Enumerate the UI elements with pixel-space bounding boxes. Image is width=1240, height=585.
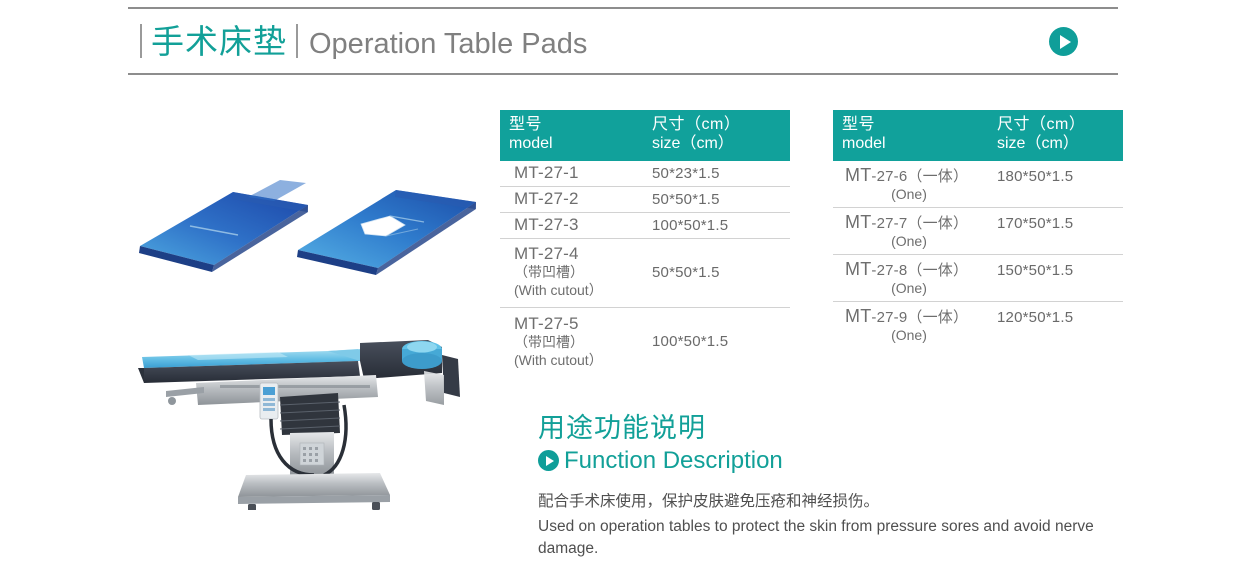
- table-header-row: 型号 model 尺寸（cm） size（cm）: [500, 110, 790, 161]
- page-header: 手术床垫 Operation Table Pads: [128, 7, 1118, 75]
- title-divider-left: [140, 24, 142, 58]
- table-row: MT-27-7（一体） 170*50*1.5 (One): [833, 208, 1123, 255]
- table-row: MT-27-5 （带凹槽） (With cutout） 100*50*1.5: [500, 308, 790, 377]
- spec-table-left: 型号 model 尺寸（cm） size（cm） MT-27-1 50*23*1…: [500, 110, 790, 377]
- function-title-cn: 用途功能说明: [538, 412, 1118, 444]
- page-title-cn: 手术床垫: [151, 23, 287, 61]
- column-header-size: 尺寸（cm） size（cm）: [973, 116, 1123, 154]
- function-description-en: Used on operation tables to protect the …: [538, 516, 1098, 559]
- table-row: MT-27-4 （带凹槽） (With cutout） 50*50*1.5: [500, 239, 790, 308]
- operating-table-illustration: [138, 340, 460, 510]
- header-rule-bottom: [128, 73, 1118, 75]
- table-row: MT-27-9（一体） 120*50*1.5 (One): [833, 302, 1123, 348]
- play-circle-icon: [538, 450, 559, 471]
- function-description-section: 用途功能说明 Function Description 配合手术床使用，保护皮肤…: [538, 412, 1118, 559]
- table-row: MT-27-2 50*50*1.5: [500, 187, 790, 213]
- pad-with-cutout-illustration: [297, 190, 476, 275]
- function-title-en: Function Description: [564, 447, 783, 474]
- title-divider-right: [296, 24, 298, 58]
- play-circle-icon[interactable]: [1049, 27, 1078, 56]
- header-rule-top: [128, 7, 1118, 9]
- spec-table-right: 型号 model 尺寸（cm） size（cm） MT-27-6（一体） 180…: [833, 110, 1123, 348]
- function-description-cn: 配合手术床使用，保护皮肤避免压疮和神经损伤。: [538, 490, 1118, 513]
- function-title-row: Function Description: [538, 447, 1118, 474]
- page-title-en: Operation Table Pads: [309, 25, 587, 63]
- pad-plain-illustration: [139, 180, 308, 272]
- column-header-size: 尺寸（cm） size（cm）: [652, 116, 790, 154]
- play-triangle-icon: [546, 456, 554, 466]
- table-row: MT-27-6（一体） 180*50*1.5 (One): [833, 161, 1123, 208]
- play-triangle-icon: [1060, 35, 1071, 49]
- table-row: MT-27-8（一体） 150*50*1.5 (One): [833, 255, 1123, 302]
- table-row: MT-27-3 100*50*1.5: [500, 213, 790, 239]
- table-row: MT-27-1 50*23*1.5: [500, 161, 790, 187]
- page-title: 手术床垫 Operation Table Pads: [140, 19, 587, 63]
- table-header-row: 型号 model 尺寸（cm） size（cm）: [833, 110, 1123, 161]
- column-header-model: 型号 model: [500, 116, 652, 154]
- product-image-group: [128, 150, 488, 510]
- column-header-model: 型号 model: [833, 116, 973, 154]
- product-illustrations: [128, 150, 488, 510]
